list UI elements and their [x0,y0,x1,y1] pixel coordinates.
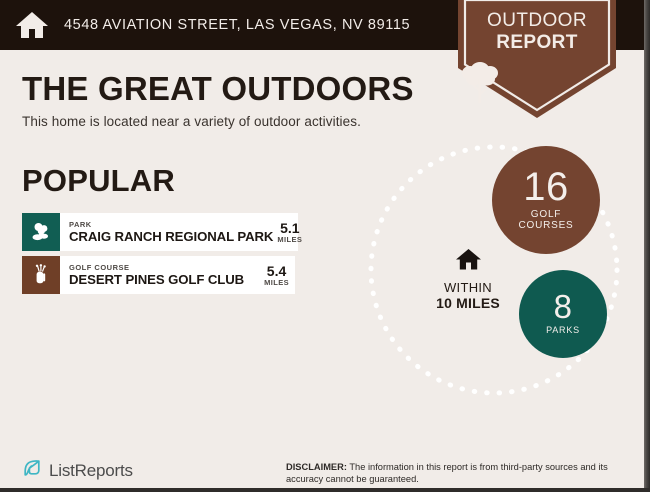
list-item-distance: 5.1 [277,221,302,235]
list-item-name: CRAIG RANCH REGIONAL PARK [69,230,273,244]
within-label-line1: WITHIN [425,280,511,295]
disclaimer-label: DISCLAIMER: [286,462,347,472]
stat-label-line2: COURSES [518,220,573,231]
list-item-distance: 5.4 [264,264,289,278]
page-title: THE GREAT OUTDOORS [22,70,414,108]
page-subtitle: This home is located near a variety of o… [22,114,361,129]
outdoor-report-banner: OUTDOOR REPORT [458,0,616,118]
within-label-line2: 10 MILES [425,295,511,311]
stat-golf-courses: 16 GOLF COURSES [492,146,600,254]
list-item[interactable]: GOLF COURSE DESERT PINES GOLF CLUB 5.4 M… [22,256,295,294]
golf-bag-icon [22,256,60,294]
list-item-distance-unit: MILES [277,236,302,244]
banner-title: OUTDOOR REPORT [458,10,616,54]
popular-section-title: POPULAR [22,163,175,199]
home-icon [455,259,482,276]
stat-label-line1: PARKS [546,325,580,336]
within-radius-label: WITHIN 10 MILES [425,248,511,311]
stat-value: 8 [554,292,573,322]
banner-title-line1: OUTDOOR [458,10,616,32]
listreports-logo[interactable]: ListReports [22,458,133,483]
list-item-distance-unit: MILES [264,279,289,287]
page-right-edge [644,0,650,492]
stat-label: PARKS [546,325,580,336]
page-bottom-edge [0,488,650,492]
list-item-category: PARK [69,221,273,229]
listreports-logo-text: ListReports [49,461,133,481]
disclaimer: DISCLAIMER: The information in this repo… [286,461,619,485]
outdoor-report-page: 4548 AVIATION STREET, LAS VEGAS, NV 8911… [0,0,650,492]
tree-icon [458,57,616,105]
home-icon [15,10,49,40]
stat-label-line1: GOLF [518,209,573,220]
property-address: 4548 AVIATION STREET, LAS VEGAS, NV 8911… [64,17,410,33]
stat-parks: 8 PARKS [519,270,607,358]
list-item-name: DESERT PINES GOLF CLUB [69,273,244,287]
stat-label: GOLF COURSES [518,209,573,231]
banner-title-line2: REPORT [458,32,616,54]
list-item-category: GOLF COURSE [69,264,244,272]
list-item[interactable]: PARK CRAIG RANCH REGIONAL PARK 5.1 MILES [22,213,298,251]
stat-value: 16 [523,169,569,206]
park-tree-icon [22,213,60,251]
listreports-leaf-icon [22,458,42,483]
